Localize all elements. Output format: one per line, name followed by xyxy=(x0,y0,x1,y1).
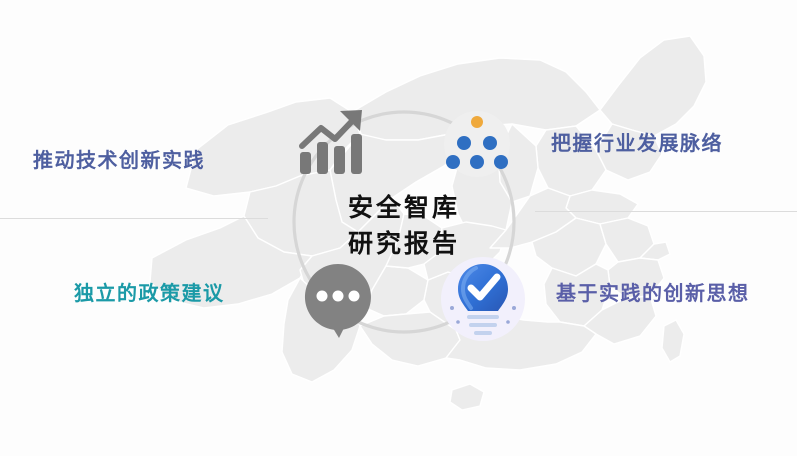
infographic-canvas: 推动技术创新实践 把握行业发展脉络 独立的政策建议 基于实践的创新思想 安全智库… xyxy=(0,0,797,456)
center-title: 安全智库 研究报告 xyxy=(334,190,474,263)
speech-bubble-ellipsis-icon xyxy=(300,262,376,340)
bar-chart-growth-icon xyxy=(296,106,372,176)
label-bottom-left: 独立的政策建议 xyxy=(74,283,225,305)
lightbulb-check-icon xyxy=(440,256,526,342)
center-title-line-1: 安全智库 xyxy=(334,190,474,226)
label-top-right: 把握行业发展脉络 xyxy=(551,133,723,155)
label-bottom-right: 基于实践的创新思想 xyxy=(556,283,750,305)
network-accent-dot xyxy=(471,116,483,128)
label-top-left: 推动技术创新实践 xyxy=(33,150,205,172)
center-title-line-2: 研究报告 xyxy=(334,226,474,262)
network-nodes-icon xyxy=(441,110,513,178)
divider-line-left xyxy=(0,218,268,219)
divider-line-right xyxy=(535,211,797,212)
